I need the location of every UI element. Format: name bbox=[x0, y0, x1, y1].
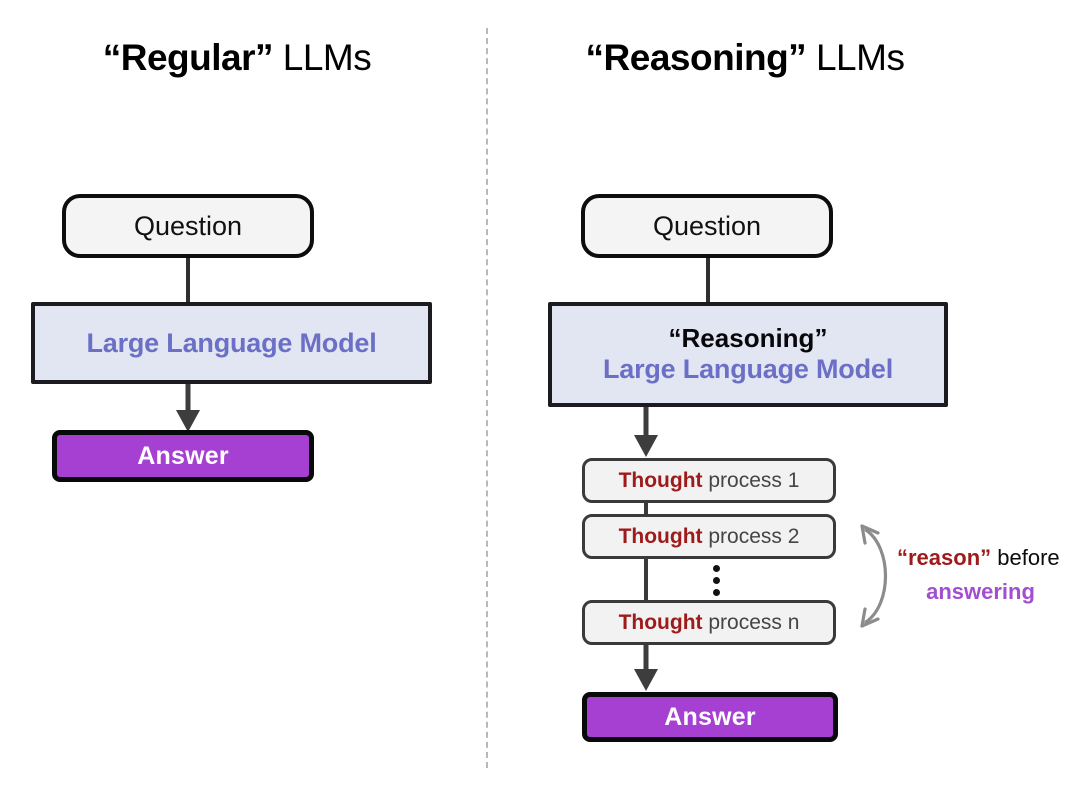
panel-title-regular-quoted: “Regular” bbox=[103, 37, 273, 78]
panel-divider bbox=[486, 28, 488, 768]
right-thought-box-1[interactable]: Thought process 1 bbox=[582, 458, 836, 503]
left-llm-box[interactable]: Large Language Model bbox=[31, 302, 432, 384]
panel-title-reasoning-plain: LLMs bbox=[806, 37, 904, 78]
left-answer-label: Answer bbox=[137, 442, 229, 471]
thought-n-strong: Thought bbox=[619, 611, 703, 634]
right-llm-box[interactable]: “Reasoning” Large Language Model bbox=[548, 302, 948, 407]
thought-ellipsis-icon bbox=[705, 565, 727, 596]
thought-1-rest: process 1 bbox=[703, 469, 800, 492]
panel-title-regular: “Regular” LLMs bbox=[2, 34, 472, 82]
right-llm-quoted-label: “Reasoning” bbox=[669, 323, 828, 353]
thought-1-strong: Thought bbox=[619, 469, 703, 492]
left-question-box[interactable]: Question bbox=[62, 194, 314, 258]
right-question-label: Question bbox=[653, 211, 761, 242]
right-llm-label: Large Language Model bbox=[603, 353, 893, 386]
left-question-label: Question bbox=[134, 211, 242, 242]
annotation-answering-word: answering bbox=[897, 576, 1072, 607]
annotation-reason-word: “reason” bbox=[897, 545, 991, 570]
right-connector-question-to-llm bbox=[706, 250, 710, 308]
annotation-before-word: before bbox=[991, 545, 1060, 570]
thought-n-rest: process n bbox=[703, 611, 800, 634]
right-arrow-llm-to-thought1 bbox=[618, 405, 674, 461]
right-answer-label: Answer bbox=[664, 703, 756, 732]
right-thought-box-2[interactable]: Thought process 2 bbox=[582, 514, 836, 559]
left-llm-label: Large Language Model bbox=[86, 327, 376, 360]
left-answer-box[interactable]: Answer bbox=[52, 430, 314, 482]
right-arrow-thoughtn-to-answer bbox=[618, 643, 674, 695]
reason-before-answering-annotation: “reason” before answering bbox=[897, 542, 1072, 607]
panel-title-reasoning: “Reasoning” LLMs bbox=[510, 34, 980, 82]
thought-2-strong: Thought bbox=[619, 525, 703, 548]
reason-loop-brace-icon bbox=[852, 518, 908, 634]
right-answer-box[interactable]: Answer bbox=[582, 692, 838, 742]
panel-title-regular-plain: LLMs bbox=[273, 37, 371, 78]
left-connector-question-to-llm bbox=[186, 250, 190, 308]
left-arrow-llm-to-answer bbox=[160, 382, 216, 436]
panel-title-reasoning-quoted: “Reasoning” bbox=[586, 37, 807, 78]
right-thought-box-n[interactable]: Thought process n bbox=[582, 600, 836, 645]
thought-2-rest: process 2 bbox=[703, 525, 800, 548]
right-question-box[interactable]: Question bbox=[581, 194, 833, 258]
diagram-canvas: “Regular” LLMs “Reasoning” LLMs Question… bbox=[0, 0, 1080, 788]
